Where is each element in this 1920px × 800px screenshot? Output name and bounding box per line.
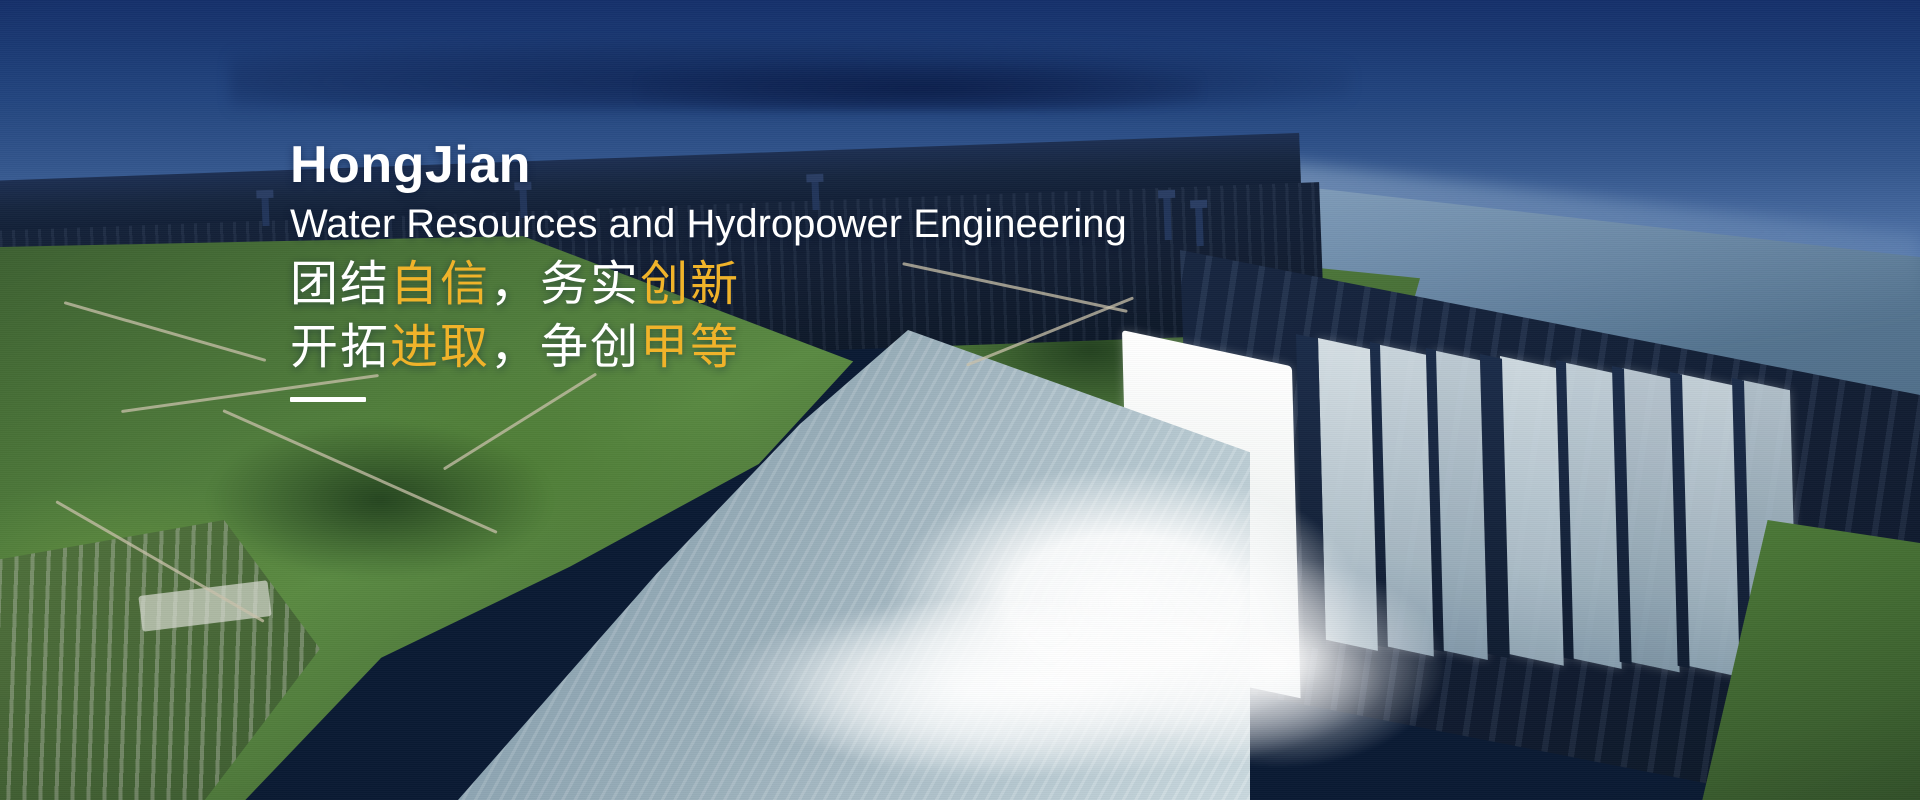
slogan-1-seg-1: 团结 (290, 258, 390, 311)
slogan-line-1: 团结自信，务实创新 (290, 253, 1390, 316)
pylon (261, 196, 269, 226)
slogan-1-seg-4: 务实 (540, 258, 640, 311)
brand-subtitle: Water Resources and Hydropower Engineeri… (290, 201, 1390, 247)
spillway-chute (1500, 356, 1564, 666)
distant-island-secondary (640, 62, 1200, 110)
brand-title: HongJian (290, 138, 1390, 193)
slogan-2-seg-3: ， (490, 321, 540, 374)
slogan-1-seg-3: ， (490, 258, 540, 311)
hero-banner: HongJian Water Resources and Hydropower … (0, 0, 1920, 800)
slogan-2-seg-2: 进取 (390, 321, 490, 374)
slogan-1-seg-2: 自信 (390, 258, 490, 311)
accent-underline (290, 397, 366, 402)
spillway-foam-spray (620, 600, 1480, 800)
slogan-2-seg-5: 甲等 (640, 321, 740, 374)
slogan-line-2: 开拓进取，争创甲等 (290, 316, 1390, 379)
slogan-1-seg-5: 创新 (640, 258, 740, 311)
hero-text-overlay: HongJian Water Resources and Hydropower … (290, 138, 1390, 402)
slogan-2-seg-4: 争创 (540, 321, 640, 374)
slogan-2-seg-1: 开拓 (290, 321, 390, 374)
